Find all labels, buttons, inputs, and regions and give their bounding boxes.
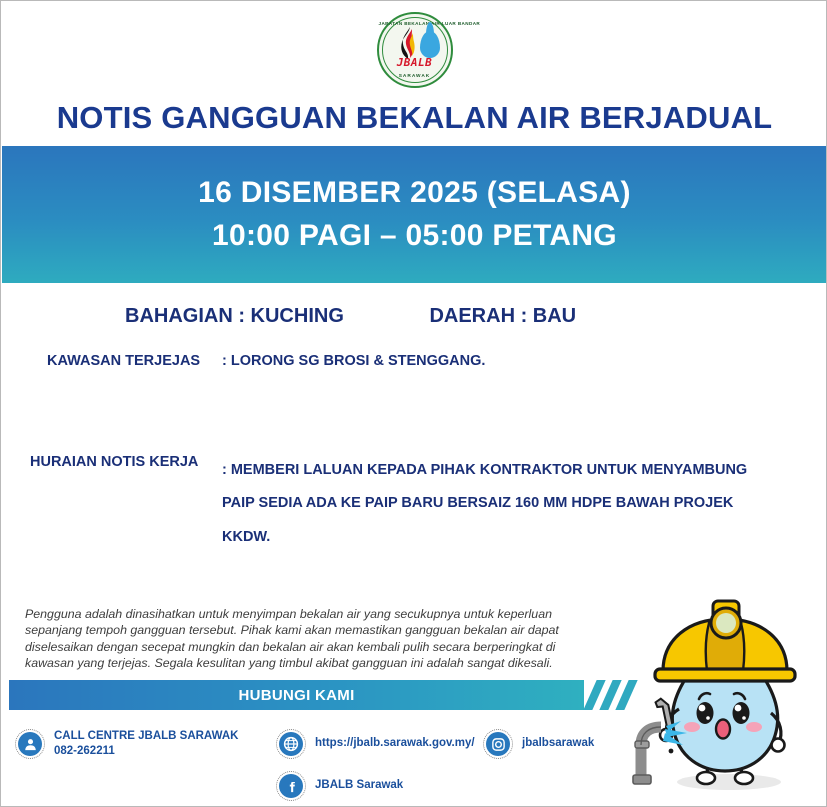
call-centre-phone: 082-262211 bbox=[54, 744, 238, 759]
water-drop-mascot-illustration bbox=[621, 593, 821, 803]
contact-instagram[interactable]: jbalbsarawak bbox=[483, 729, 594, 759]
page-title: NOTIS GANGGUAN BEKALAN AIR BERJADUAL bbox=[1, 100, 827, 136]
kawasan-label: KAWASAN TERJEJAS bbox=[47, 353, 222, 369]
facebook-glyph bbox=[284, 779, 299, 794]
logo-arc-top-text: JABATAN BEKALAN AIR LUAR BANDAR bbox=[379, 21, 451, 26]
instagram-icon bbox=[483, 729, 513, 759]
schedule-banner: 16 DISEMBER 2025 (SELASA) 10:00 PAGI – 0… bbox=[2, 146, 827, 283]
facebook-icon bbox=[276, 771, 306, 801]
instagram-handle[interactable]: jbalbsarawak bbox=[522, 736, 594, 751]
instagram-glyph bbox=[491, 737, 506, 752]
globe-icon bbox=[276, 729, 306, 759]
mascot-shadow bbox=[677, 774, 781, 790]
logo-water-drop-icon bbox=[420, 31, 440, 58]
globe-glyph bbox=[283, 736, 299, 752]
banner-date: 16 DISEMBER 2025 (SELASA) bbox=[198, 172, 631, 215]
work-description-row: HURAIAN NOTIS KERJA: MEMBERI LALUAN KEPA… bbox=[30, 454, 810, 554]
notice-page: JABATAN BEKALAN AIR LUAR BANDAR JBALB SA… bbox=[0, 0, 827, 807]
affected-area-row: KAWASAN TERJEJAS: LORONG SG BROSI & STEN… bbox=[47, 353, 807, 369]
contact-website[interactable]: https://jbalb.sarawak.gov.my/ bbox=[276, 729, 475, 759]
logo-flame-icon bbox=[400, 27, 415, 59]
logo-header: JABATAN BEKALAN AIR LUAR BANDAR JBALB SA… bbox=[1, 9, 827, 91]
contact-facebook[interactable]: JBALB Sarawak bbox=[276, 771, 403, 801]
logo-arc-bottom-text: SARAWAK bbox=[379, 74, 451, 79]
person-glyph bbox=[23, 737, 38, 752]
daerah-label: DAERAH : BAU bbox=[429, 305, 576, 327]
call-centre-text: CALL CENTRE JBALB SARAWAK 082-262211 bbox=[54, 729, 238, 760]
contact-call-centre[interactable]: CALL CENTRE JBALB SARAWAK 082-262211 bbox=[15, 729, 238, 760]
contact-heading-label: HUBUNGI KAMI bbox=[238, 687, 354, 704]
kawasan-value: : LORONG SG BROSI & STENGGANG. bbox=[222, 353, 485, 369]
disclaimer-text: Pengguna adalah dinasihatkan untuk menyi… bbox=[25, 606, 595, 672]
huraian-value: : MEMBERI LALUAN KEPADA PIHAK KONTRAKTOR… bbox=[222, 454, 782, 554]
bahagian-label: BAHAGIAN : KUCHING bbox=[125, 305, 344, 327]
jbalb-logo-icon: JABATAN BEKALAN AIR LUAR BANDAR JBALB SA… bbox=[377, 12, 453, 88]
contact-list: CALL CENTRE JBALB SARAWAK 082-262211 htt… bbox=[1, 723, 661, 803]
person-icon bbox=[15, 729, 45, 759]
contact-heading-bar: HUBUNGI KAMI bbox=[9, 680, 584, 710]
banner-time: 10:00 PAGI – 05:00 PETANG bbox=[212, 215, 617, 258]
division-district-row: BAHAGIAN : KUCHING DAERAH : BAU bbox=[125, 305, 725, 328]
call-centre-name: CALL CENTRE JBALB SARAWAK bbox=[54, 729, 238, 744]
logo-wordmark: JBALB bbox=[379, 56, 451, 69]
huraian-label: HURAIAN NOTIS KERJA bbox=[30, 454, 222, 470]
website-url[interactable]: https://jbalb.sarawak.gov.my/ bbox=[315, 736, 475, 751]
facebook-page[interactable]: JBALB Sarawak bbox=[315, 778, 403, 793]
